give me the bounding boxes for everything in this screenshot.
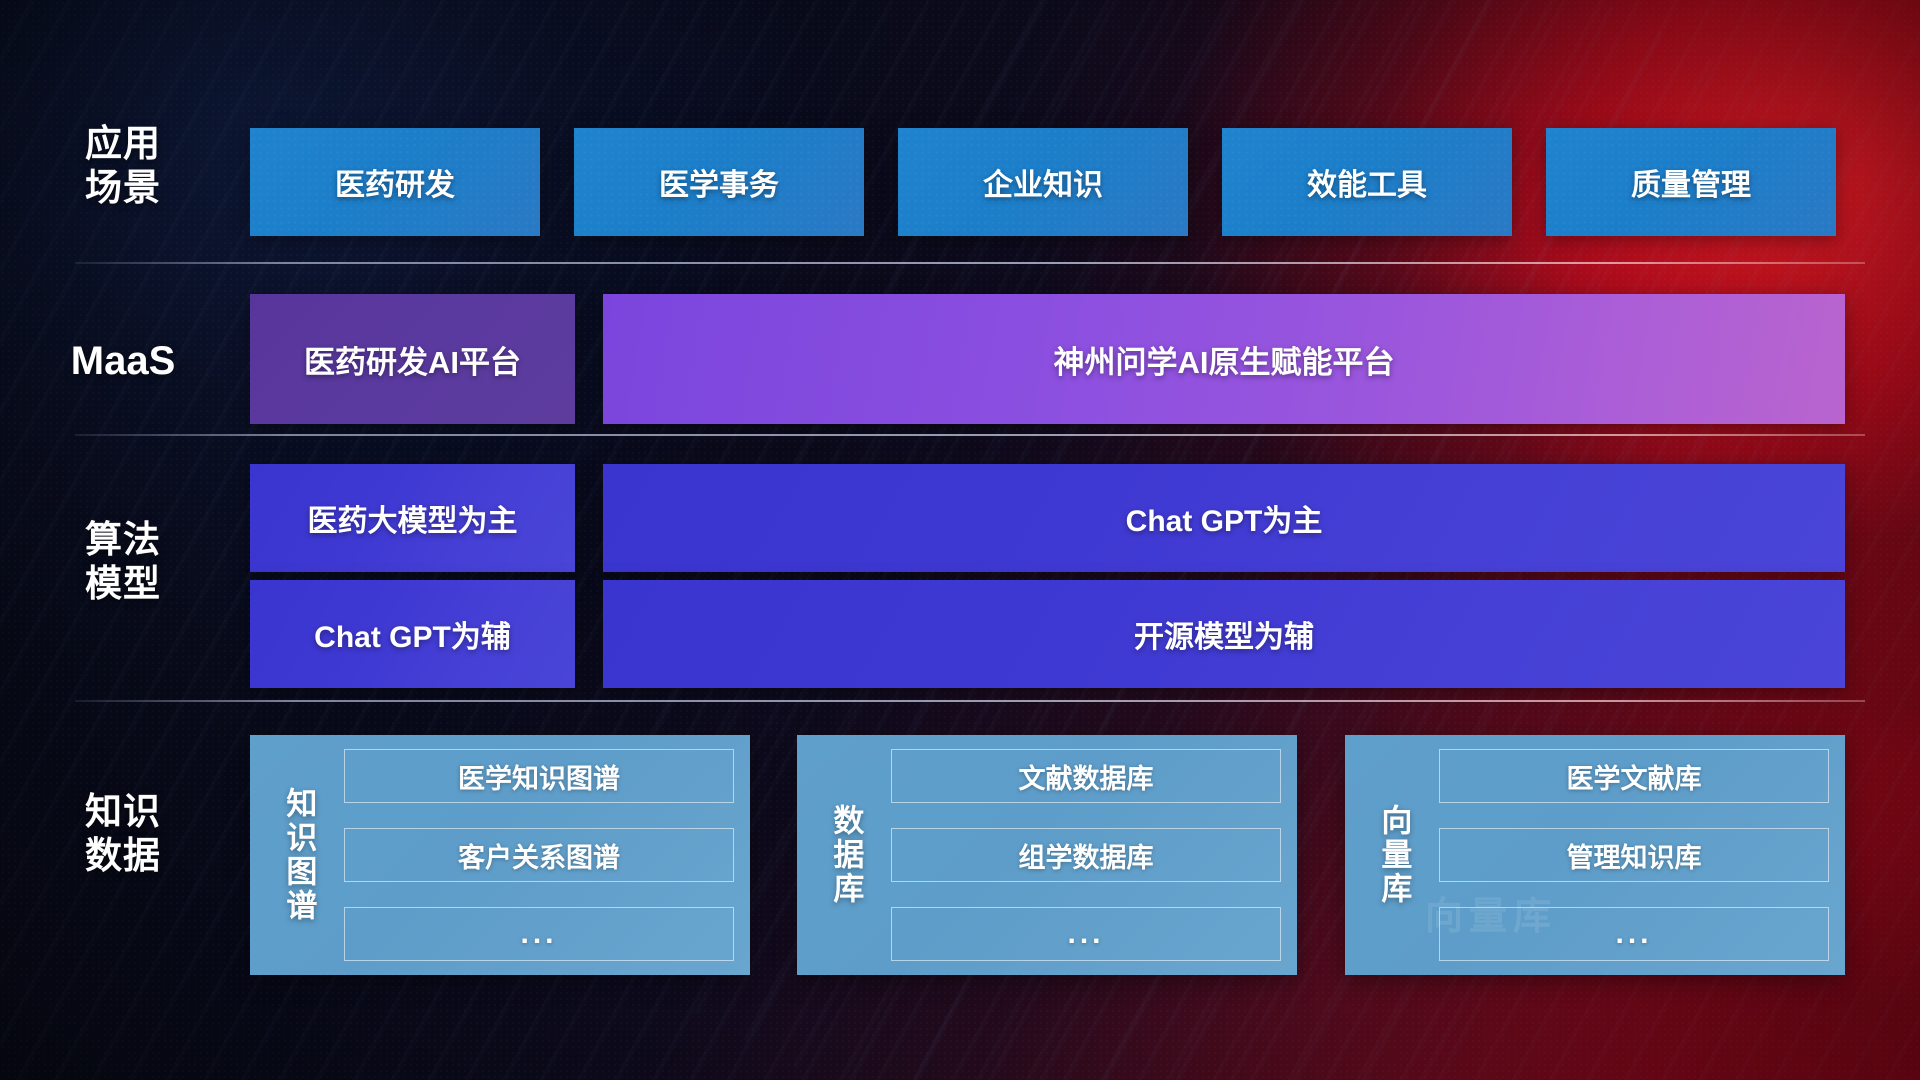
slide-canvas: 应用 场景 医药研发 医学事务 企业知识 效能工具 质量管理 MaaS	[0, 0, 1920, 1080]
row-label-maas-text: MaaS	[28, 338, 218, 385]
knowledge-item-management-kb[interactable]: 管理知识库	[1439, 828, 1829, 882]
knowledge-panel-graph[interactable]: 知识图谱 医学知识图谱 客户关系图谱 ...	[250, 735, 750, 975]
knowledge-panel-vector-items: 医学文献库 管理知识库 ...	[1439, 749, 1829, 961]
maas-box-drug-ai-platform-label: 医药研发AI平台	[304, 337, 521, 382]
row-label-application-line2: 场景	[28, 166, 218, 210]
app-box-medical-affairs[interactable]: 医学事务	[574, 128, 864, 236]
knowledge-item-medical-literature[interactable]: 医学文献库	[1439, 749, 1829, 803]
knowledge-panel-vector-title: 向量库	[1361, 749, 1425, 961]
knowledge-item-omics-db[interactable]: 组学数据库	[891, 828, 1281, 882]
row-label-knowledge-line2: 数据	[28, 834, 218, 878]
algo-box-pharma-llm-primary-label: 医药大模型为主	[308, 496, 518, 540]
algo-box-opensource-secondary-label: 开源模型为辅	[1134, 612, 1314, 656]
maas-box-shenzhou-platform-label: 神州问学AI原生赋能平台	[1054, 337, 1395, 382]
row-label-algorithm-line1: 算法	[28, 518, 218, 562]
knowledge-panel-graph-items: 医学知识图谱 客户关系图谱 ...	[344, 749, 734, 961]
row-label-maas: MaaS	[28, 338, 218, 385]
app-box-enterprise-knowledge[interactable]: 企业知识	[898, 128, 1188, 236]
knowledge-item-customer-kg[interactable]: 客户关系图谱	[344, 828, 734, 882]
app-box-enterprise-knowledge-label: 企业知识	[983, 160, 1103, 204]
knowledge-panel-graph-title: 知识图谱	[266, 749, 330, 961]
architecture-diagram: 应用 场景 医药研发 医学事务 企业知识 效能工具 质量管理 MaaS	[0, 0, 1920, 1080]
app-box-efficiency-tools[interactable]: 效能工具	[1222, 128, 1512, 236]
row-label-algorithm-line2: 模型	[28, 562, 218, 606]
row-label-application-line1: 应用	[28, 122, 218, 166]
algo-box-chatgpt-secondary[interactable]: Chat GPT为辅	[250, 580, 575, 688]
knowledge-item-more[interactable]: ...	[891, 907, 1281, 961]
app-box-quality-management-label: 质量管理	[1631, 160, 1751, 204]
algo-box-opensource-secondary[interactable]: 开源模型为辅	[603, 580, 1845, 688]
app-box-quality-management[interactable]: 质量管理	[1546, 128, 1836, 236]
algo-box-chatgpt-secondary-label: Chat GPT为辅	[314, 612, 511, 656]
knowledge-item-literature-db[interactable]: 文献数据库	[891, 749, 1281, 803]
row-label-knowledge-line1: 知识	[28, 790, 218, 834]
knowledge-item-more[interactable]: ...	[1439, 907, 1829, 961]
app-box-efficiency-tools-label: 效能工具	[1307, 160, 1427, 204]
knowledge-panel-vector[interactable]: 向量库 医学文献库 管理知识库 ...	[1345, 735, 1845, 975]
knowledge-item-more[interactable]: ...	[344, 907, 734, 961]
app-box-medical-affairs-label: 医学事务	[659, 160, 779, 204]
maas-box-shenzhou-platform[interactable]: 神州问学AI原生赋能平台	[603, 294, 1845, 424]
app-box-drug-rd-label: 医药研发	[335, 160, 455, 204]
algo-box-pharma-llm-primary[interactable]: 医药大模型为主	[250, 464, 575, 572]
knowledge-panel-database[interactable]: 数据库 文献数据库 组学数据库 ...	[797, 735, 1297, 975]
app-box-drug-rd[interactable]: 医药研发	[250, 128, 540, 236]
knowledge-panel-database-title: 数据库	[813, 749, 877, 961]
divider-application-maas	[75, 262, 1865, 264]
knowledge-panel-database-items: 文献数据库 组学数据库 ...	[891, 749, 1281, 961]
divider-algorithm-knowledge	[75, 700, 1865, 702]
algo-box-chatgpt-primary[interactable]: Chat GPT为主	[603, 464, 1845, 572]
algo-box-chatgpt-primary-label: Chat GPT为主	[1126, 496, 1323, 540]
knowledge-item-medical-kg[interactable]: 医学知识图谱	[344, 749, 734, 803]
row-label-knowledge: 知识 数据	[28, 790, 218, 877]
divider-maas-algorithm	[75, 434, 1865, 436]
row-label-application: 应用 场景	[28, 122, 218, 209]
maas-box-drug-ai-platform[interactable]: 医药研发AI平台	[250, 294, 575, 424]
row-label-algorithm: 算法 模型	[28, 518, 218, 605]
